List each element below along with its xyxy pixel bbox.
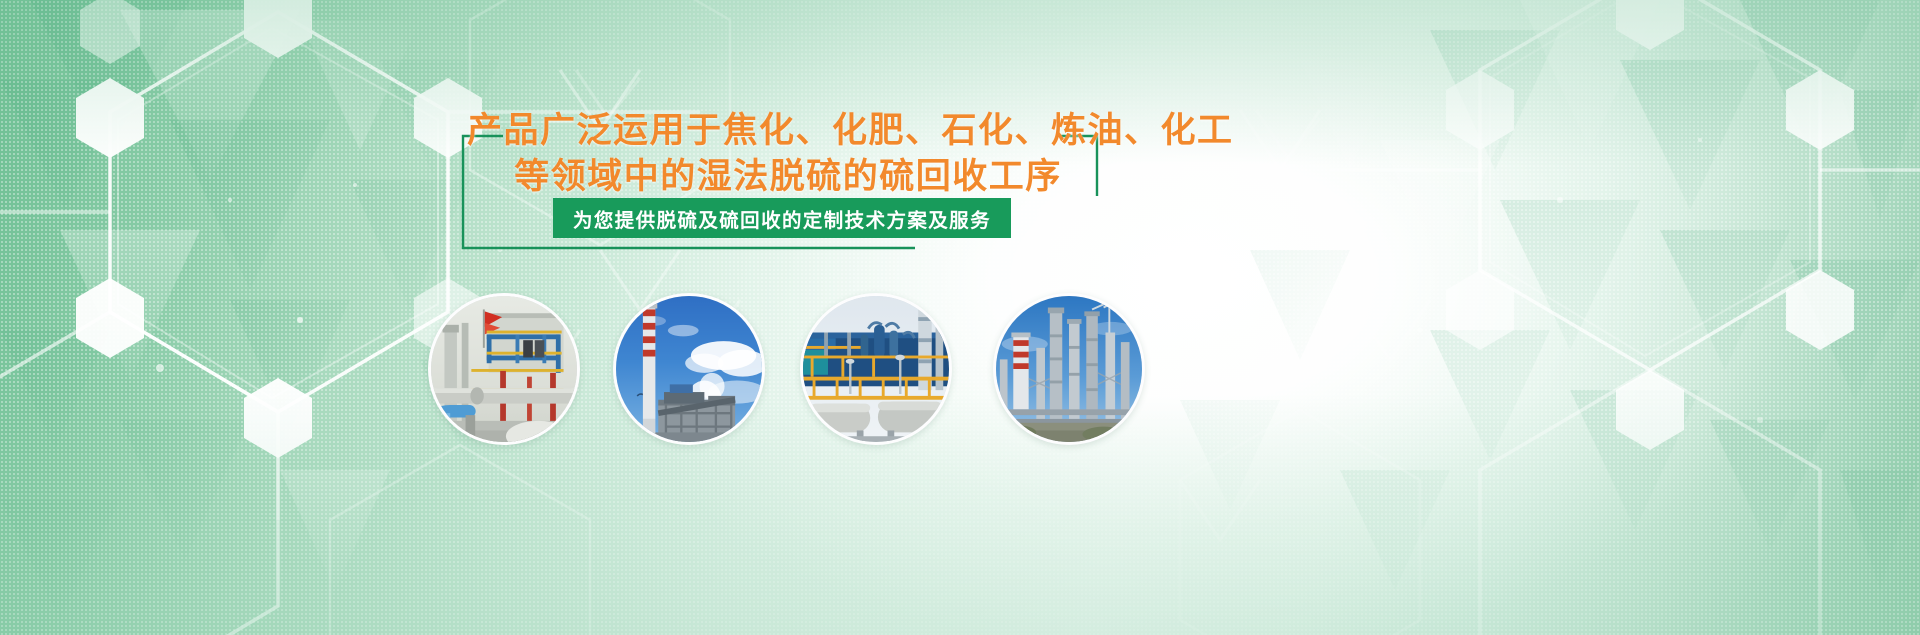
photo-power-plant-stack (613, 293, 765, 445)
hero-banner: 产品广泛运用于焦化、化肥、石化、炼油、化工 等领域中的湿法脱硫的硫回收工序 为您… (0, 0, 1920, 635)
photo-3-image (803, 296, 949, 442)
headline-block: 产品广泛运用于焦化、化肥、石化、炼油、化工 等领域中的湿法脱硫的硫回收工序 (455, 108, 1105, 199)
photo-desulfurization-plant (428, 293, 580, 445)
photo-2-image (616, 296, 762, 442)
photo-strip (0, 293, 1920, 445)
headline-line-2: 等领域中的湿法脱硫的硫回收工序 (467, 154, 1105, 200)
photo-refinery-towers (993, 293, 1145, 445)
banner-content: 产品广泛运用于焦化、化肥、石化、炼油、化工 等领域中的湿法脱硫的硫回收工序 为您… (0, 0, 1920, 635)
subtitle-banner: 为您提供脱硫及硫回收的定制技术方案及服务 (553, 198, 1011, 238)
photo-sulfur-recovery-unit (800, 293, 952, 445)
photo-1-image (431, 296, 577, 442)
photo-4-image (996, 296, 1142, 442)
headline-line-1: 产品广泛运用于焦化、化肥、石化、炼油、化工 (467, 108, 1105, 154)
headline-text: 产品广泛运用于焦化、化肥、石化、炼油、化工 等领域中的湿法脱硫的硫回收工序 (455, 108, 1105, 199)
subtitle-banner-text: 为您提供脱硫及硫回收的定制技术方案及服务 (573, 204, 991, 233)
